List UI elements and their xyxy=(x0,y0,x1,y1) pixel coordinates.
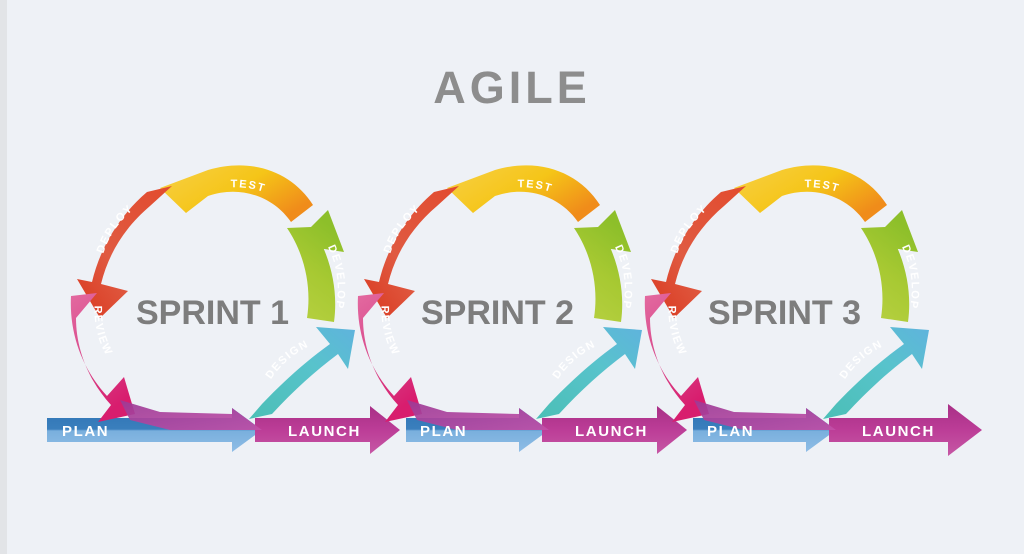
launch-label-3: LAUNCH xyxy=(862,423,935,440)
cycle2-review-label: REVIEW xyxy=(378,306,401,358)
plan-label-2: PLAN xyxy=(420,423,467,440)
cycle3-review-label: REVIEW xyxy=(665,306,688,358)
cycle1-review-label: REVIEW xyxy=(91,306,114,358)
cycle2-test-arrow[interactable] xyxy=(447,165,600,222)
launch-label-2: LAUNCH xyxy=(575,423,648,440)
plan-label-1: PLAN xyxy=(62,423,109,440)
plan-label-3: PLAN xyxy=(707,423,754,440)
sprint-label-3: SPRINT 3 xyxy=(708,294,861,333)
sprint-label-1: SPRINT 1 xyxy=(136,294,289,333)
agile-diagram-canvas: AGILE xyxy=(0,0,1024,554)
agile-cycles-svg: TEST DEPLOY REVIEW DESIGN DEVELOP xyxy=(0,0,1024,554)
cycle3-test-arrow[interactable] xyxy=(734,165,887,222)
launch-label-1: LAUNCH xyxy=(288,423,361,440)
cycle1-test-arrow[interactable] xyxy=(160,165,313,222)
sprint-label-2: SPRINT 2 xyxy=(421,294,574,333)
